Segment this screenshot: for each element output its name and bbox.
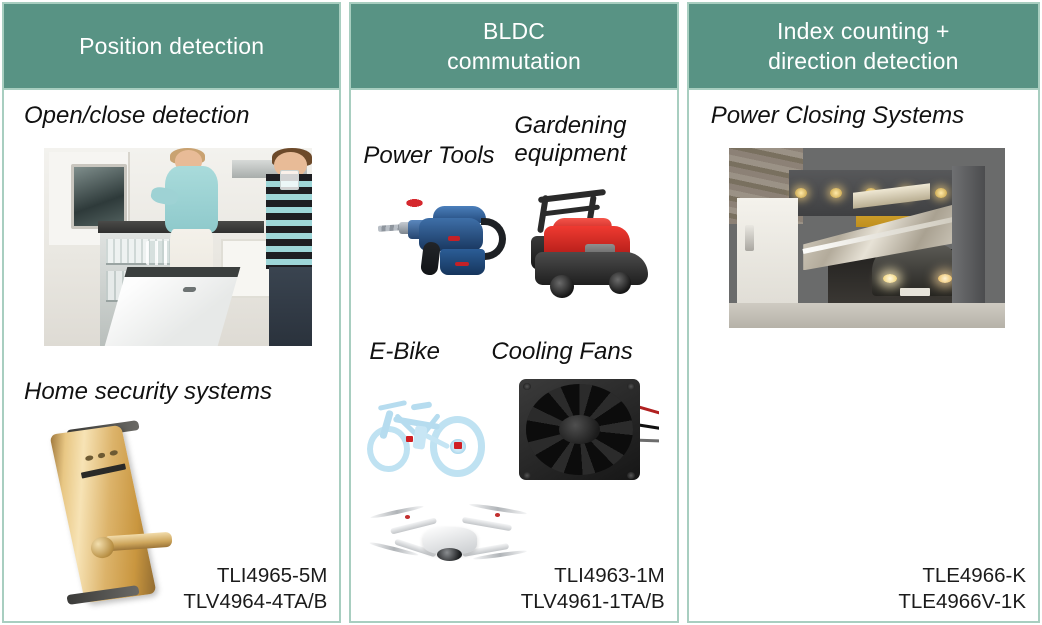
part-numbers-bldc-commutation: TLI4963-1M TLV4961-1TA/B <box>521 563 665 615</box>
panel-header-line-2: commutation <box>447 46 581 76</box>
panel-header-index-counting: Index counting + direction detection <box>689 4 1038 90</box>
panel-index-counting: Index counting + direction detection Pow… <box>687 2 1040 623</box>
caption-gardening-equipment: Gardening equipment <box>514 112 626 168</box>
axial-cooling-fan-photo <box>499 372 659 492</box>
part-numbers-position-detection: TLI4965-5M TLV4964-4TA/B <box>183 563 327 615</box>
caption-e-bike: E-Bike <box>369 338 440 366</box>
part-number: TLV4964-4TA/B <box>183 589 327 615</box>
caption-power-tools: Power Tools <box>363 142 494 170</box>
drone-art <box>361 490 541 582</box>
part-number: TLE4966V-1K <box>898 589 1026 615</box>
part-numbers-index-counting: TLE4966-K TLE4966V-1K <box>898 563 1026 615</box>
garage-door-photo <box>729 148 1005 328</box>
cooling-fan-art <box>499 372 659 492</box>
kitchen-scene-art <box>44 148 312 346</box>
garage-scene-art <box>729 148 1005 328</box>
door-lock-art <box>34 420 184 615</box>
quadcopter-drone-photo <box>361 490 541 582</box>
panel-header-bldc-commutation: BLDC commutation <box>351 4 676 90</box>
part-number: TLI4965-5M <box>183 563 327 589</box>
panel-position-detection: Position detection Open/close detection <box>2 2 341 623</box>
panel-header-line-1: Index counting + <box>768 16 958 46</box>
lawn-mower-photo <box>517 180 665 308</box>
lawn-mower-art <box>517 180 665 308</box>
part-number: TLI4963-1M <box>521 563 665 589</box>
caption-home-security-systems: Home security systems <box>24 378 272 406</box>
caption-open-close-detection: Open/close detection <box>24 102 249 130</box>
e-bike-art <box>359 378 489 483</box>
caption-cooling-fans: Cooling Fans <box>491 338 632 366</box>
panel-body-position-detection: Open/close detection <box>4 90 339 621</box>
drill-art <box>371 185 511 295</box>
rotary-hammer-drill-photo <box>371 185 511 295</box>
panel-header-position-detection: Position detection <box>4 4 339 90</box>
panel-body-bldc-commutation: Power Tools Gardening equipment <box>351 90 676 621</box>
kitchen-dishwasher-photo <box>44 148 312 346</box>
electronic-door-lock-photo <box>34 420 184 615</box>
panel-header-line-1: BLDC <box>447 16 581 46</box>
part-number: TLV4961-1TA/B <box>521 589 665 615</box>
applications-overview-board: Position detection Open/close detection <box>0 0 1042 625</box>
panel-body-index-counting: Power Closing Systems <box>689 90 1038 621</box>
caption-power-closing-systems: Power Closing Systems <box>711 102 964 130</box>
part-number: TLE4966-K <box>898 563 1026 589</box>
panel-header-line-2: direction detection <box>768 46 958 76</box>
panel-bldc-commutation: BLDC commutation Power Tools Gardening e… <box>349 2 678 623</box>
e-bike-illustration <box>359 378 489 483</box>
